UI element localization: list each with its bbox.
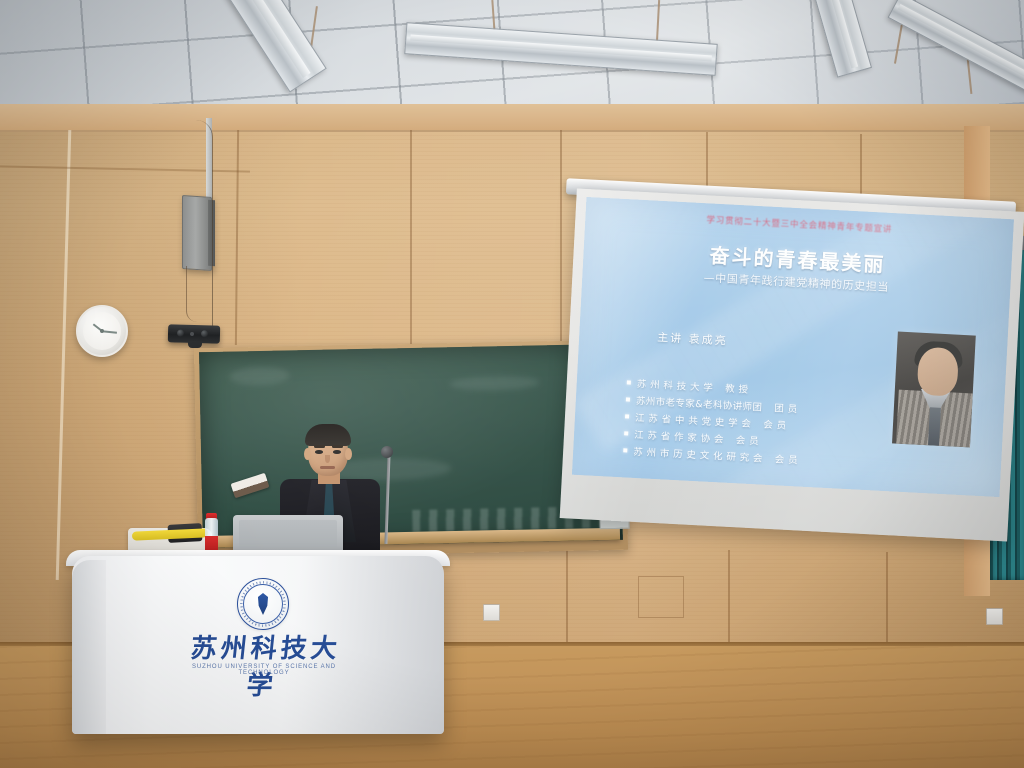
chalk-smudge [450,375,540,391]
wall-panel-seam [860,134,862,196]
slide-portrait-photo [892,331,976,447]
wall-outlet[interactable] [483,604,500,621]
presenter-ear [304,448,311,460]
podium-left-face [72,560,106,734]
camera-mount [188,341,202,348]
wall-access-panel [638,576,684,618]
credential-role: 会 员 [763,417,787,432]
wall-panel-seam [560,130,562,348]
wall-outlet[interactable] [986,608,1003,625]
presenter-eye [315,450,323,454]
credential-org: 苏 州 科 技 大 学 [636,376,713,394]
university-name-en: SUZHOU UNIVERSITY OF SCIENCE AND TECHNOL… [168,664,360,676]
presenter-hair [305,424,351,446]
presenter-eye [333,450,341,454]
camera-cable [196,120,213,326]
camera-lens-icon [177,330,184,337]
projected-slide: 学习贯彻二十大暨三中全会精神青年专题宣讲 奋斗的青春最美丽 —中国青年践行建党精… [572,197,1014,497]
credential-org: 江 苏 省 作 家 协 会 [634,427,724,446]
portrait-tie [928,407,941,446]
wall-panel-seam [410,130,412,348]
microphone-head-icon[interactable] [381,446,393,458]
clock-face [83,312,121,350]
wall-top-band [0,104,1024,132]
presenter-eyebrow [314,445,325,448]
credential-role: 会 员 [775,451,799,466]
projector-screen: 学习贯彻二十大暨三中全会精神青年专题宣讲 奋斗的青春最美丽 —中国青年践行建党精… [560,189,1024,542]
wall-panel-seam [566,548,568,644]
bullet-square-icon [625,414,629,418]
credential-role: 团 员 [774,400,798,415]
clock-minute-hand [102,330,117,333]
bullet-square-icon [623,448,627,452]
bullet-square-icon [624,431,628,435]
camera-indicator-icon [190,332,194,336]
bullet-square-icon [627,380,631,384]
wall-panel-seam [728,550,730,644]
presenter-eyebrow [332,445,343,448]
credential-role: 会 员 [736,432,760,447]
credential-org: 苏 州 市 历 史 文 化 研 究 会 [633,444,763,465]
lecture-hall-photo: 学习贯彻二十大暨三中全会精神青年专题宣讲 奋斗的青春最美丽 —中国青年践行建党精… [0,0,1024,768]
presenter-ear [345,448,352,460]
monitor-back-panel [239,520,337,553]
slide-credentials-list: 苏 州 科 技 大 学 教 授 苏州市老专家&老科协讲师团 团 员 江 苏 省 … [623,375,802,469]
clock-hub [100,329,104,333]
presenter-mouth [320,466,335,469]
camera-lens-icon [201,330,208,337]
wall-panel-seam [886,552,888,644]
presenter-nose [325,455,330,463]
university-crest-icon [237,578,289,630]
bullet-square-icon [626,397,630,401]
portrait-face [917,347,959,397]
credential-role: 教 授 [725,381,749,396]
wall-clock [76,305,128,357]
chalk-smudge [229,366,289,385]
